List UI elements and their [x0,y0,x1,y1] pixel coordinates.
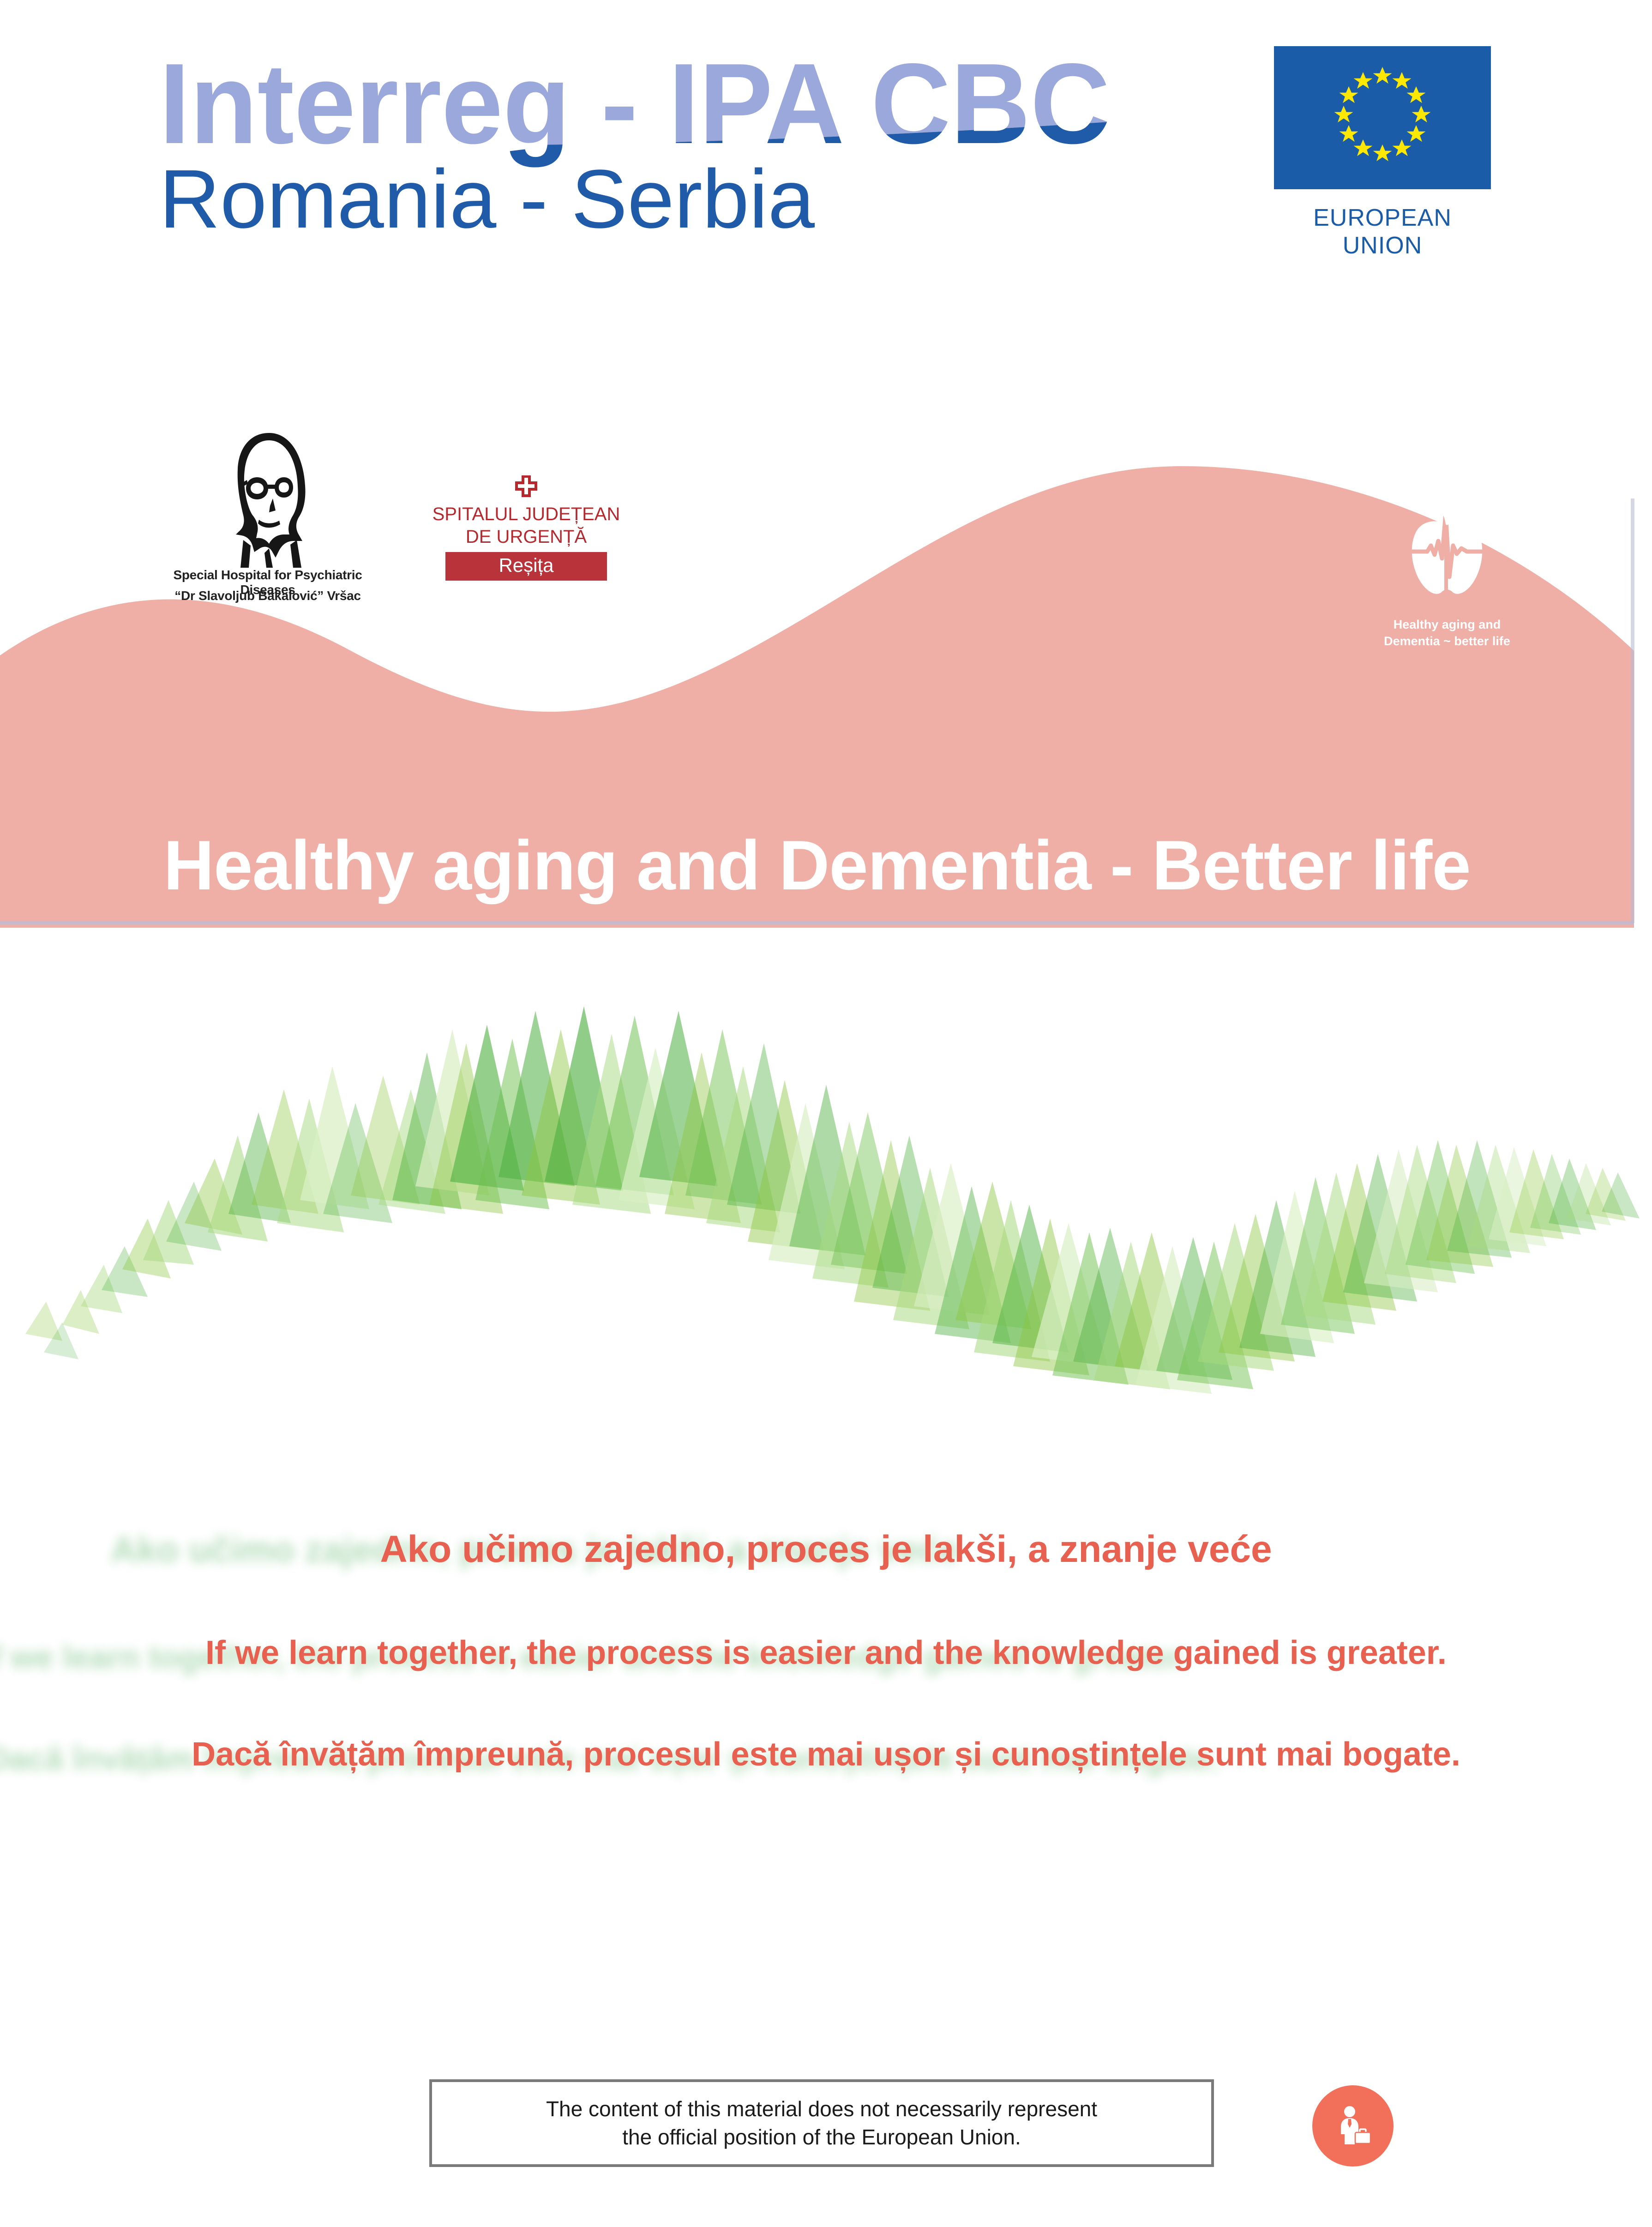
project-logo: Healthy aging and Dementia ~ better life [1350,503,1544,678]
eu-flag-icon [1274,46,1491,189]
quote-serbian: Ako učimo zajedno, proces je lakši, a zn… [0,1528,1652,1571]
interreg-wordmark-line2: Romania - Serbia [159,153,815,238]
quote-block: Ako učimo zajedno, proces je lakši, a zn… [0,1500,1652,1823]
eu-emblem: EUROPEAN UNION [1274,46,1505,254]
interreg-wordmark-line1: Interreg - IPA CBC Interreg - IPA CBC [159,44,1110,168]
partner-resita-city-badge: Reșița [445,552,607,581]
poster-header: Interreg - IPA CBC Interreg - IPA CBC Ro… [0,0,1652,286]
page-title: Healthy aging and Dementia - Better life [163,825,1471,906]
disclaimer-line2: the official position of the European Un… [622,2123,1021,2151]
poster-footer: The content of this material does not ne… [0,2049,1652,2227]
person-with-briefcase-icon [1331,2104,1375,2148]
partner-resita-name-line1: SPITALUL JUDEȚEAN [425,503,628,526]
project-logo-line1: Healthy aging and [1350,617,1544,633]
quote-romanian: Dacă învățăm împreună, procesul este mai… [0,1735,1652,1773]
eu-emblem-label: EUROPEAN UNION [1274,204,1491,259]
apple-heartbeat-icon [1394,503,1500,609]
project-logo-line2: Dementia ~ better life [1350,633,1544,650]
partner-vrsac-name-line2: “Dr Slavoljub Bakalović” Vršac [152,588,383,603]
partner-logo-resita: SPITALUL JUDEȚEAN DE URGENȚĂ Reșița [425,475,628,614]
disclaimer-box: The content of this material does not ne… [429,2079,1214,2167]
medical-cross-icon [514,475,538,499]
partner-resita-name-line2: DE URGENȚĂ [425,526,628,548]
partner-logos: Special Hospital for Psychiatric Disease… [0,429,692,623]
partner-logo-vrsac: Special Hospital for Psychiatric Disease… [152,429,383,614]
disclaimer-line1: The content of this material does not ne… [546,2095,1097,2123]
quote-english: If we learn together, the process is eas… [0,1634,1652,1672]
portrait-bust-icon [215,429,325,568]
person-with-briefcase-badge [1312,2085,1394,2167]
green-triangle-wave-graphic [0,983,1652,1477]
poster-title-banner: Healthy aging and Dementia - Better life [0,812,1634,918]
interreg-programme-logo: Interreg - IPA CBC Interreg - IPA CBC Ro… [159,44,1235,238]
